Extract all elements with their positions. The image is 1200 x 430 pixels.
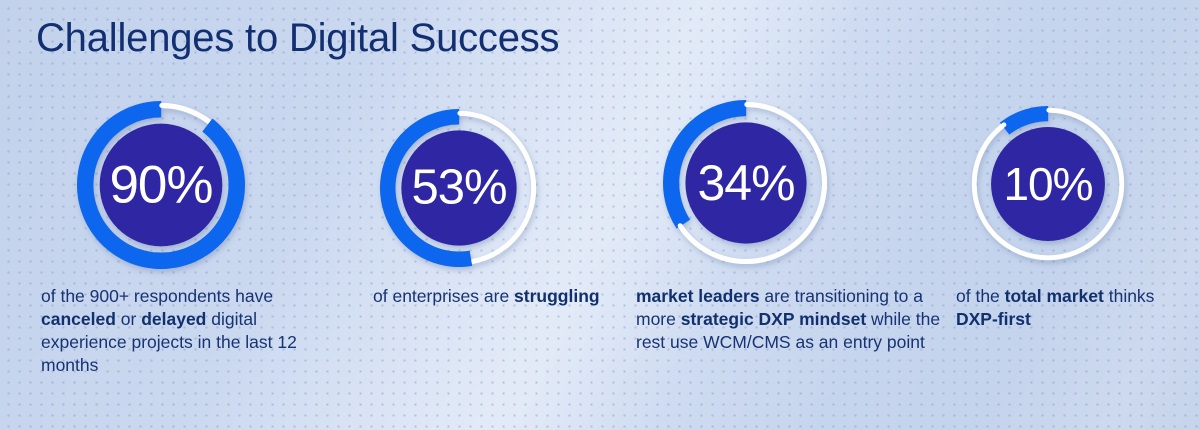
stat-caption-1: of the 900+ respondents have canceled or…: [41, 285, 341, 377]
infographic-root: Challenges to Digital Success 90% of the…: [0, 0, 1200, 430]
gauge-value-10: 10%: [964, 161, 1132, 207]
gauge-dial-53: 53%: [374, 103, 544, 273]
page-title: Challenges to Digital Success: [36, 16, 559, 61]
stat-caption-3: market leaders are transitioning to a mo…: [636, 285, 946, 354]
gauge-dial-10: 10%: [964, 100, 1132, 268]
gauge-value-34: 34%: [657, 158, 835, 208]
stat-caption-2: of enterprises are struggling: [373, 285, 623, 308]
gauge-value-53: 53%: [374, 164, 544, 213]
gauge-dial-34: 34%: [657, 94, 835, 272]
stat-caption-4: of the total market thinks DXP-first: [956, 285, 1200, 331]
gauge-dial-90: 90%: [71, 95, 251, 275]
gauge-value-90: 90%: [71, 159, 251, 212]
